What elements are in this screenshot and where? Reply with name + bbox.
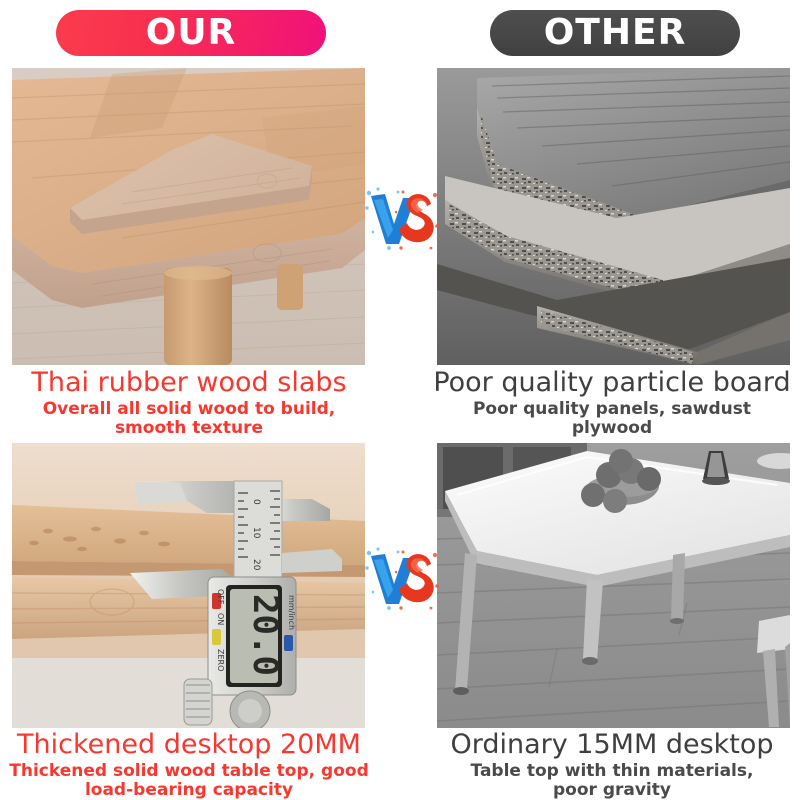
caption-other-row2: Ordinary 15MM desktop Table top with thi… [424,730,800,799]
stacked-particle-board-photo [437,68,790,365]
caption-subtitle-line2: load-bearing capacity [0,781,378,799]
other-badge-label: OTHER [544,15,687,51]
caption-other-row1: Poor quality particle board Poor quality… [424,368,800,437]
our-badge-label: OUR [146,15,237,51]
caption-our-row1: Thai rubber wood slabs Overall all solid… [0,368,378,437]
caliper-off-label: OFF [216,589,225,605]
caption-title: Poor quality particle board [424,368,800,397]
caliper-zero-button [212,629,221,645]
vs-marker-bottom [365,546,439,612]
caliper-lcd-value: 20.0 [245,594,285,676]
caliper-on-label: ON [216,613,225,625]
caption-subtitle-line2: poor gravity [424,781,800,799]
digital-caliper-measuring-tabletop-photo: 0 10 20 20.0 OFF ON ZERO mm/inch [12,443,365,728]
caliper-unit-button [284,635,293,651]
caption-subtitle-line1: Table top with thin materials, [424,762,800,780]
ordinary-thin-white-dining-table-photo [437,443,790,728]
comparison-infographic: OUR OTHER [0,0,800,800]
vs-letter-v-icon [365,187,415,250]
caption-title: Thickened desktop 20MM [0,730,378,759]
caption-subtitle-line2: plywood [424,419,800,437]
caliper-scale-tick-0: 0 [251,499,261,505]
caliper-scale-tick-20: 20 [251,559,261,571]
caliper-zero-label: ZERO [216,649,225,671]
caption-subtitle-line1: Thickened solid wood table top, good [0,762,378,780]
caption-subtitle-line2: smooth texture [0,419,378,437]
caption-our-row2: Thickened desktop 20MM Thickened solid w… [0,730,378,799]
solid-rubber-wood-table-corner-photo [12,68,365,365]
vs-marker-top [365,186,439,252]
caption-title: Ordinary 15MM desktop [424,730,800,759]
other-badge: OTHER [490,10,740,56]
our-badge: OUR [56,10,326,56]
caption-title: Thai rubber wood slabs [0,368,378,397]
caption-subtitle-line1: Poor quality panels, sawdust [424,400,800,418]
vs-letter-v-icon [365,547,415,610]
caliper-scale-tick-10: 10 [251,527,261,539]
caliper-unit-label: mm/inch [287,595,296,630]
caption-subtitle-line1: Overall all solid wood to build, [0,400,378,418]
